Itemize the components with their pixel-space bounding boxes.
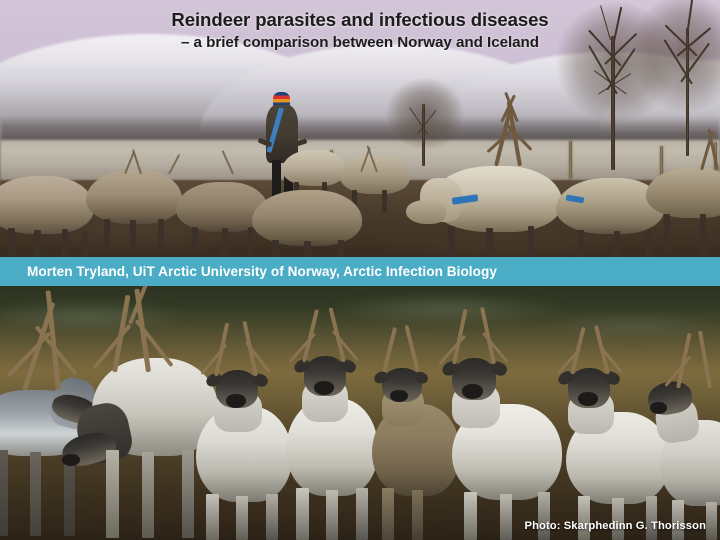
reindeer-leg <box>700 214 706 255</box>
reindeer-leg <box>192 227 198 255</box>
reindeer-leg <box>646 230 651 257</box>
reindeer <box>340 156 410 194</box>
reindeer-leg <box>248 227 253 255</box>
reindeer-leg <box>382 190 387 213</box>
reindeer <box>282 150 346 186</box>
reindeer-leg <box>222 228 228 255</box>
slide-title: Reindeer parasites and infectious diseas… <box>0 9 720 31</box>
reindeer-leg <box>82 231 88 257</box>
norway-reindeer-photo: Reindeer parasites and infectious diseas… <box>0 0 720 257</box>
author-banner: Morten Tryland, UiT Arctic University of… <box>0 257 720 286</box>
reindeer-head <box>406 200 446 224</box>
reindeer-leg <box>448 226 455 257</box>
author-affiliation-text: Morten Tryland, UiT Arctic University of… <box>0 264 497 279</box>
reindeer-leg <box>614 231 620 257</box>
fence-post <box>569 141 572 179</box>
reindeer-leg <box>8 228 15 256</box>
slide-subtitle: – a brief comparison between Norway and … <box>0 34 720 52</box>
reindeer-leg <box>664 214 670 254</box>
reindeer <box>86 170 182 224</box>
reindeer-leg <box>62 229 68 257</box>
presentation-slide: Reindeer parasites and infectious diseas… <box>0 0 720 540</box>
reindeer <box>646 168 720 218</box>
reindeer-leg <box>528 226 534 257</box>
iceland-reindeer-photo: Photo: Skarphedinn G. Thorisson <box>0 286 720 540</box>
photo-credit: Photo: Skarphedinn G. Thorisson <box>525 520 706 532</box>
reindeer <box>252 190 362 246</box>
reindeer-leg <box>338 240 344 257</box>
reindeer-leg <box>578 230 584 257</box>
reindeer-leg <box>158 219 164 250</box>
reindeer-leg <box>130 220 136 252</box>
reindeer-leg <box>104 219 110 251</box>
reindeer-leg <box>304 241 311 257</box>
reindeer-leg <box>272 240 279 257</box>
reindeer-leg <box>34 230 41 257</box>
reindeer-leg <box>486 228 493 257</box>
reindeer <box>0 176 94 234</box>
slide-title-block: Reindeer parasites and infectious diseas… <box>0 9 720 52</box>
